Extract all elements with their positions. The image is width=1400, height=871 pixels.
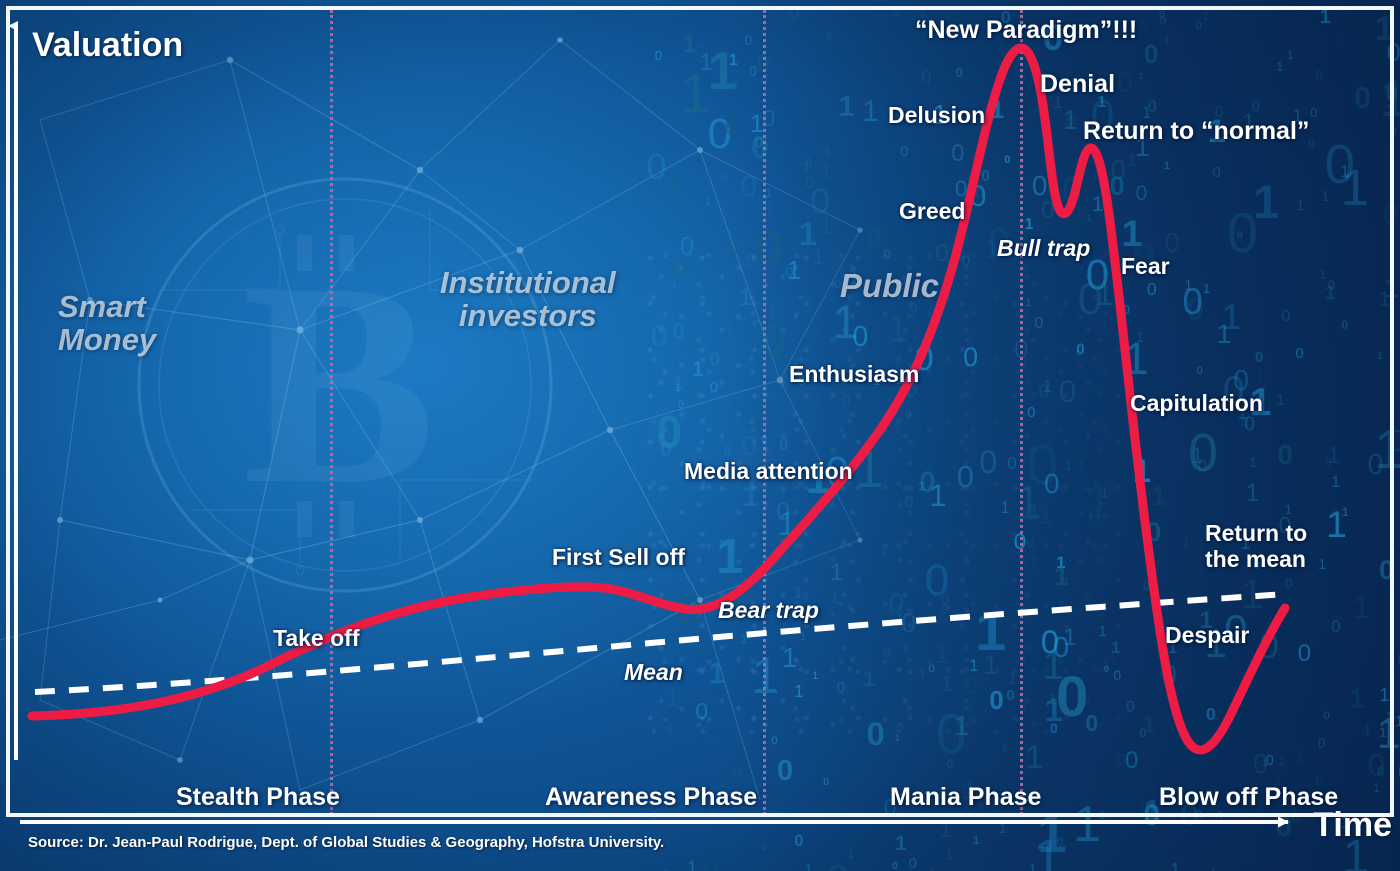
stage-label-first-sell-off: First Sell off — [552, 545, 685, 571]
y-axis-label: Valuation — [32, 26, 183, 65]
stage-label-media-attention: Media attention — [684, 459, 853, 485]
stage-label-take-off: Take off — [273, 626, 359, 652]
stage-label-return-to-normal: Return to “normal” — [1083, 117, 1309, 145]
stage-label-return-to-the-mean: Return tothe mean — [1205, 521, 1307, 573]
stage-label-enthusiasm: Enthusiasm — [789, 362, 919, 388]
phase-label-stealth-phase: Stealth Phase — [176, 783, 340, 812]
stage-label-bull-trap: Bull trap — [997, 236, 1090, 262]
phase-label-blow-off-phase: Blow off Phase — [1159, 783, 1338, 812]
actor-label-smart-money: SmartMoney — [58, 290, 156, 357]
phase-label-mania-phase: Mania Phase — [890, 783, 1041, 812]
stage-label-new-paradigm: “New Paradigm”!!! — [915, 16, 1137, 44]
stage-label-fear: Fear — [1121, 254, 1170, 280]
stage-label-greed: Greed — [899, 199, 965, 225]
stage-label-bear-trap: Bear trap — [718, 598, 819, 624]
phase-divider-3 — [1020, 10, 1023, 815]
stage-label-denial: Denial — [1040, 70, 1115, 98]
bubble-chart-infographic: B 10011000100001100000100000100111000011… — [0, 0, 1400, 871]
source-attribution: Source: Dr. Jean-Paul Rodrigue, Dept. of… — [28, 834, 664, 851]
phase-label-awareness-phase: Awareness Phase — [545, 783, 757, 812]
phase-divider-1 — [330, 10, 333, 815]
phase-divider-2 — [763, 10, 766, 815]
stage-label-mean: Mean — [624, 660, 683, 686]
actor-label-institutional-investors: Institutionalinvestors — [440, 266, 616, 333]
actor-label-public: Public — [840, 268, 939, 304]
stage-label-capitulation: Capitulation — [1130, 391, 1263, 417]
stage-label-delusion: Delusion — [888, 103, 985, 129]
stage-label-despair: Despair — [1165, 623, 1249, 649]
